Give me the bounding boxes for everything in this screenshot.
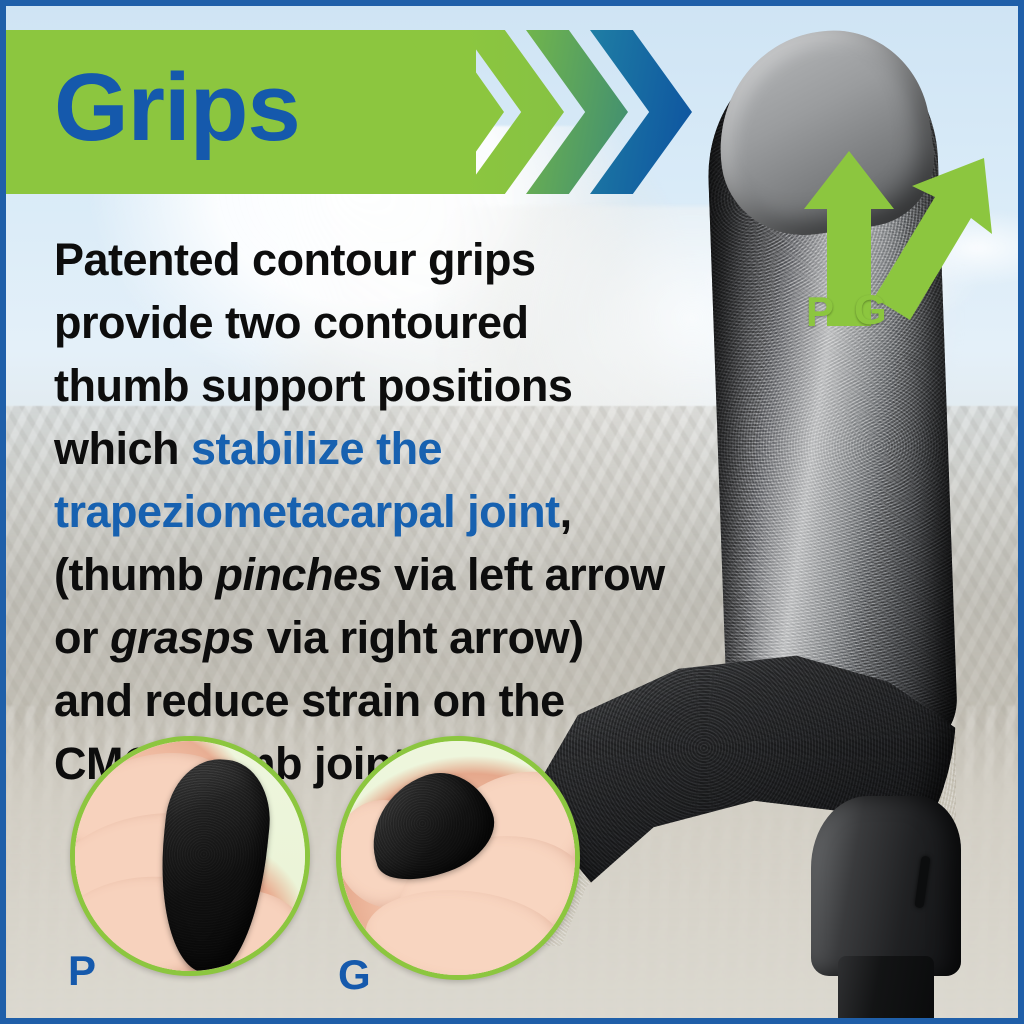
grip-arrow-label-pinch: P	[806, 291, 834, 333]
page-title: Grips	[54, 60, 300, 156]
pinch-inset-photo	[70, 736, 310, 976]
copy-line-7-italic: grasps	[110, 612, 255, 663]
grasp-hand-image	[341, 741, 575, 975]
poster-canvas: Grips Patented contour grips provide two…	[0, 0, 1024, 1024]
inset-label-pinch: P	[68, 950, 96, 992]
grip-arrow-label-grasp: G	[854, 289, 887, 331]
copy-line-4-plain: which	[54, 423, 191, 474]
pinch-hand-image	[75, 741, 305, 971]
copy-line-7-b: via right arrow)	[255, 612, 584, 663]
header-banner: Grips	[6, 30, 706, 194]
cane-shaft	[838, 956, 934, 1024]
grasp-arrow-icon	[866, 156, 1016, 331]
grasp-inset-photo	[336, 736, 580, 980]
copy-line-6-italic: pinches	[215, 549, 382, 600]
copy-line-4-highlight: stabilize the	[191, 423, 442, 474]
copy-line-5-highlight: trapeziometacarpal joint	[54, 486, 560, 537]
copy-line-7-a: or	[54, 612, 110, 663]
copy-line-5-plain: ,	[560, 486, 572, 537]
inset-label-grasp: G	[338, 954, 371, 996]
cane-grip-photo: P G	[606, 6, 1024, 1024]
copy-line-6-a: (thumb	[54, 549, 215, 600]
grip-collar	[811, 796, 961, 976]
